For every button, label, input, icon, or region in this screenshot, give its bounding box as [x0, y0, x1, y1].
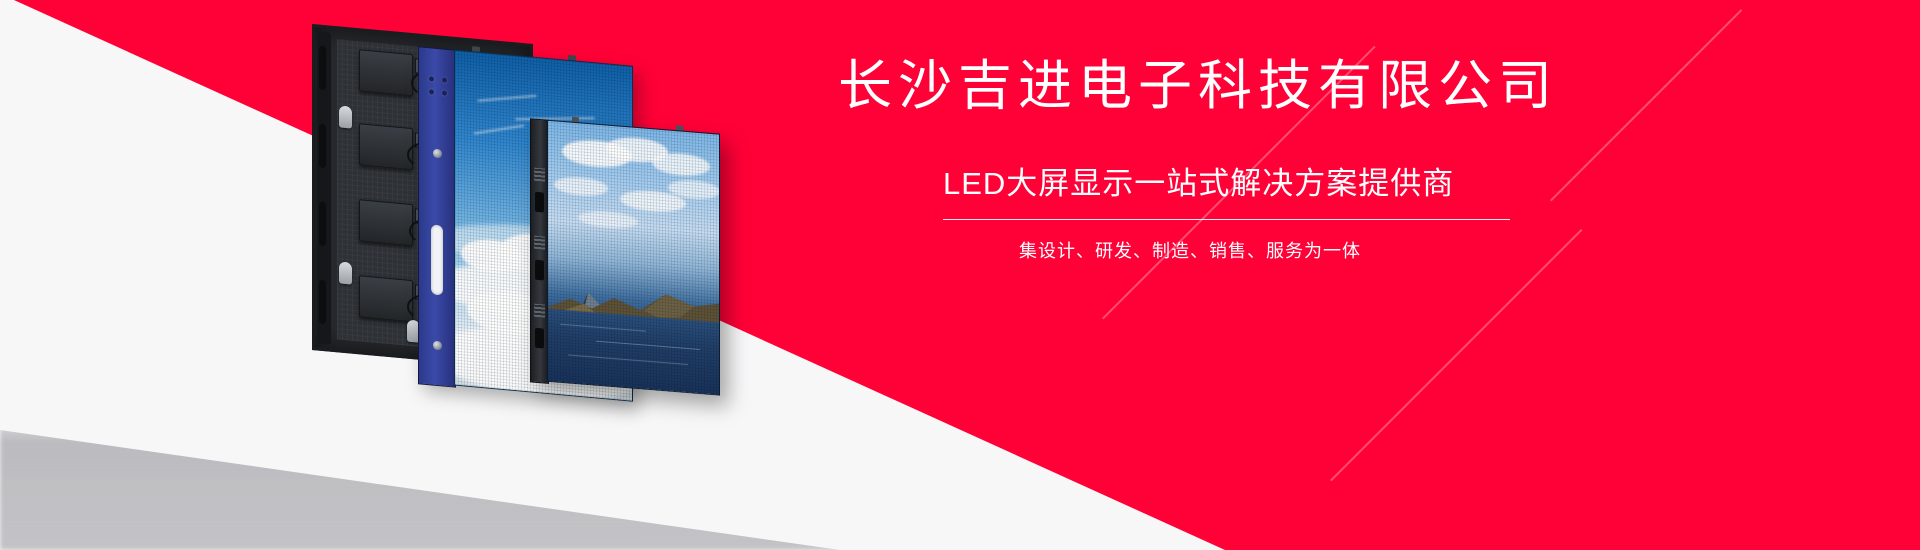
frame-dot	[429, 76, 434, 81]
panel-mountain-screen	[547, 120, 720, 396]
slogan-primary: LED大屏显示一站式解决方案提供商	[943, 162, 1513, 206]
led-product-group	[300, 0, 920, 480]
slogan-divider	[943, 219, 1510, 220]
frame-dot	[442, 77, 447, 82]
cabinet-connector	[339, 105, 352, 128]
cabinet-power-module	[359, 199, 413, 246]
frame-screw	[433, 149, 442, 159]
banner-text-block: 长沙吉进电子科技有限公司 LED大屏显示一站式解决方案提供商 集设计、研发、制造…	[838, 0, 1618, 550]
led-panel-mountain	[530, 118, 720, 395]
cabinet-slot	[319, 46, 326, 91]
hero-banner: 长沙吉进电子科技有限公司 LED大屏显示一站式解决方案提供商 集设计、研发、制造…	[0, 0, 1920, 550]
side-vent	[535, 260, 544, 281]
side-module	[534, 304, 545, 318]
cabinet-slot	[319, 202, 326, 247]
side-vent	[535, 192, 544, 213]
side-module	[534, 168, 545, 182]
slogan-secondary: 集设计、研发、制造、销售、服务为一体	[943, 238, 1513, 264]
cabinet-power-module	[359, 49, 413, 96]
slogan-group: LED大屏显示一站式解决方案提供商 集设计、研发、制造、销售、服务为一体	[943, 162, 1513, 264]
cloud-wisp	[474, 125, 525, 135]
frame-dot	[442, 90, 447, 95]
cabinet-power-module	[359, 123, 413, 170]
cabinet-connector	[339, 261, 352, 284]
cabinet-slot	[319, 280, 326, 325]
cloud	[554, 175, 608, 197]
water-shimmer	[560, 324, 646, 332]
company-title: 长沙吉进电子科技有限公司	[838, 55, 1558, 117]
water-shimmer	[568, 354, 688, 365]
frame-dot	[429, 89, 434, 94]
lake-water	[548, 309, 719, 395]
panel-blue-frame	[418, 46, 456, 387]
panel-handle	[431, 224, 443, 295]
side-vent	[535, 328, 544, 349]
frame-screw	[433, 341, 442, 351]
cabinet-slot	[319, 124, 326, 169]
side-module	[534, 236, 545, 250]
cloud	[578, 209, 638, 230]
water-shimmer	[596, 341, 700, 350]
cabinet-power-module	[359, 275, 413, 322]
cloud	[652, 151, 710, 178]
cloud-wisp	[477, 95, 536, 102]
